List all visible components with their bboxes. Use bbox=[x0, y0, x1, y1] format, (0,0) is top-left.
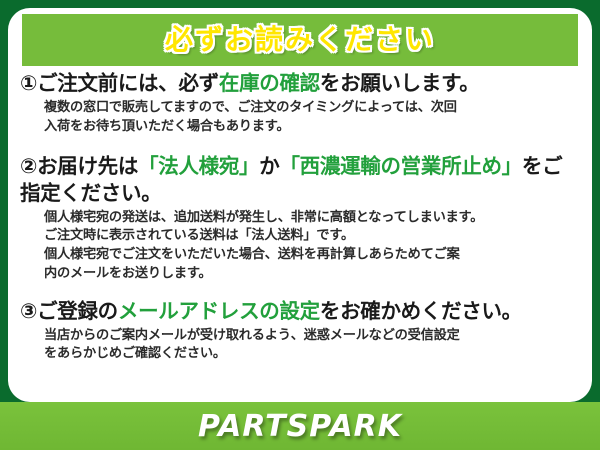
notice-item-1-highlight: 在庫の確認 bbox=[219, 71, 320, 95]
spacer-2 bbox=[20, 286, 580, 298]
notice-item-2-heading: ②お届け先は「法人様宛」か「西濃運輸の営業所止め」をご指定ください。 bbox=[20, 153, 580, 207]
notice-item-3-number: ③ bbox=[20, 299, 37, 323]
notice-item-1-number: ① bbox=[20, 71, 37, 95]
notice-item-3-subtext: 当店からのご案内メールが受け取れるよう、迷惑メールなどの受信設定 をあらかじめご… bbox=[44, 327, 580, 364]
notice-item-1-text-a: ご注文前には、必ず bbox=[37, 71, 219, 95]
notice-item-2-number: ② bbox=[20, 154, 37, 178]
content-panel: 必ずお読みください ①ご注文前には、必ず在庫の確認をお願いします。 複数の窓口で… bbox=[8, 8, 592, 402]
notice-item-2-subtext: 個人様宅宛の発送は、追加送料が発生し、非常に高額となってしまいます。 ご注文時に… bbox=[44, 209, 580, 284]
notice-item-3-heading: ③ご登録のメールアドレスの設定をお確かめください。 bbox=[20, 298, 580, 325]
notice-item-2-highlight-a: 「法人様宛」 bbox=[138, 154, 259, 178]
brand-logo: PARTSPARK bbox=[198, 409, 402, 444]
notice-item-2: ②お届け先は「法人様宛」か「西濃運輸の営業所止め」をご指定ください。 個人様宅宛… bbox=[20, 153, 580, 284]
footer-band: PARTSPARK bbox=[0, 402, 600, 450]
notice-item-3-highlight: メールアドレスの設定 bbox=[118, 299, 320, 323]
notice-item-3-text-b: をお確かめください。 bbox=[320, 299, 522, 323]
notice-item-3: ③ご登録のメールアドレスの設定をお確かめください。 当店からのご案内メールが受け… bbox=[20, 298, 580, 365]
notice-item-2-highlight-b: 「西濃運輸の営業所止め」 bbox=[279, 154, 521, 178]
notice-item-1-text-b: をお願いします。 bbox=[320, 71, 480, 95]
spacer-1 bbox=[20, 139, 580, 153]
header-title: 必ずお読みください bbox=[165, 26, 435, 54]
notice-item-1-subtext: 複数の窓口で販売してますので、ご注文のタイミングによっては、次回 入荷をお待ち頂… bbox=[44, 99, 580, 136]
notice-item-2-text-a: お届け先は bbox=[37, 154, 138, 178]
notice-item-3-text-a: ご登録の bbox=[37, 299, 118, 323]
notice-banner: 必ずお読みください ①ご注文前には、必ず在庫の確認をお願いします。 複数の窓口で… bbox=[0, 0, 600, 450]
header-band: 必ずお読みください bbox=[22, 14, 578, 66]
notice-item-1: ①ご注文前には、必ず在庫の確認をお願いします。 複数の窓口で販売してますので、ご… bbox=[20, 70, 580, 137]
notice-item-2-text-b: か bbox=[259, 154, 279, 178]
notice-list: ①ご注文前には、必ず在庫の確認をお願いします。 複数の窓口で販売してますので、ご… bbox=[8, 70, 592, 366]
notice-item-1-heading: ①ご注文前には、必ず在庫の確認をお願いします。 bbox=[20, 70, 580, 97]
